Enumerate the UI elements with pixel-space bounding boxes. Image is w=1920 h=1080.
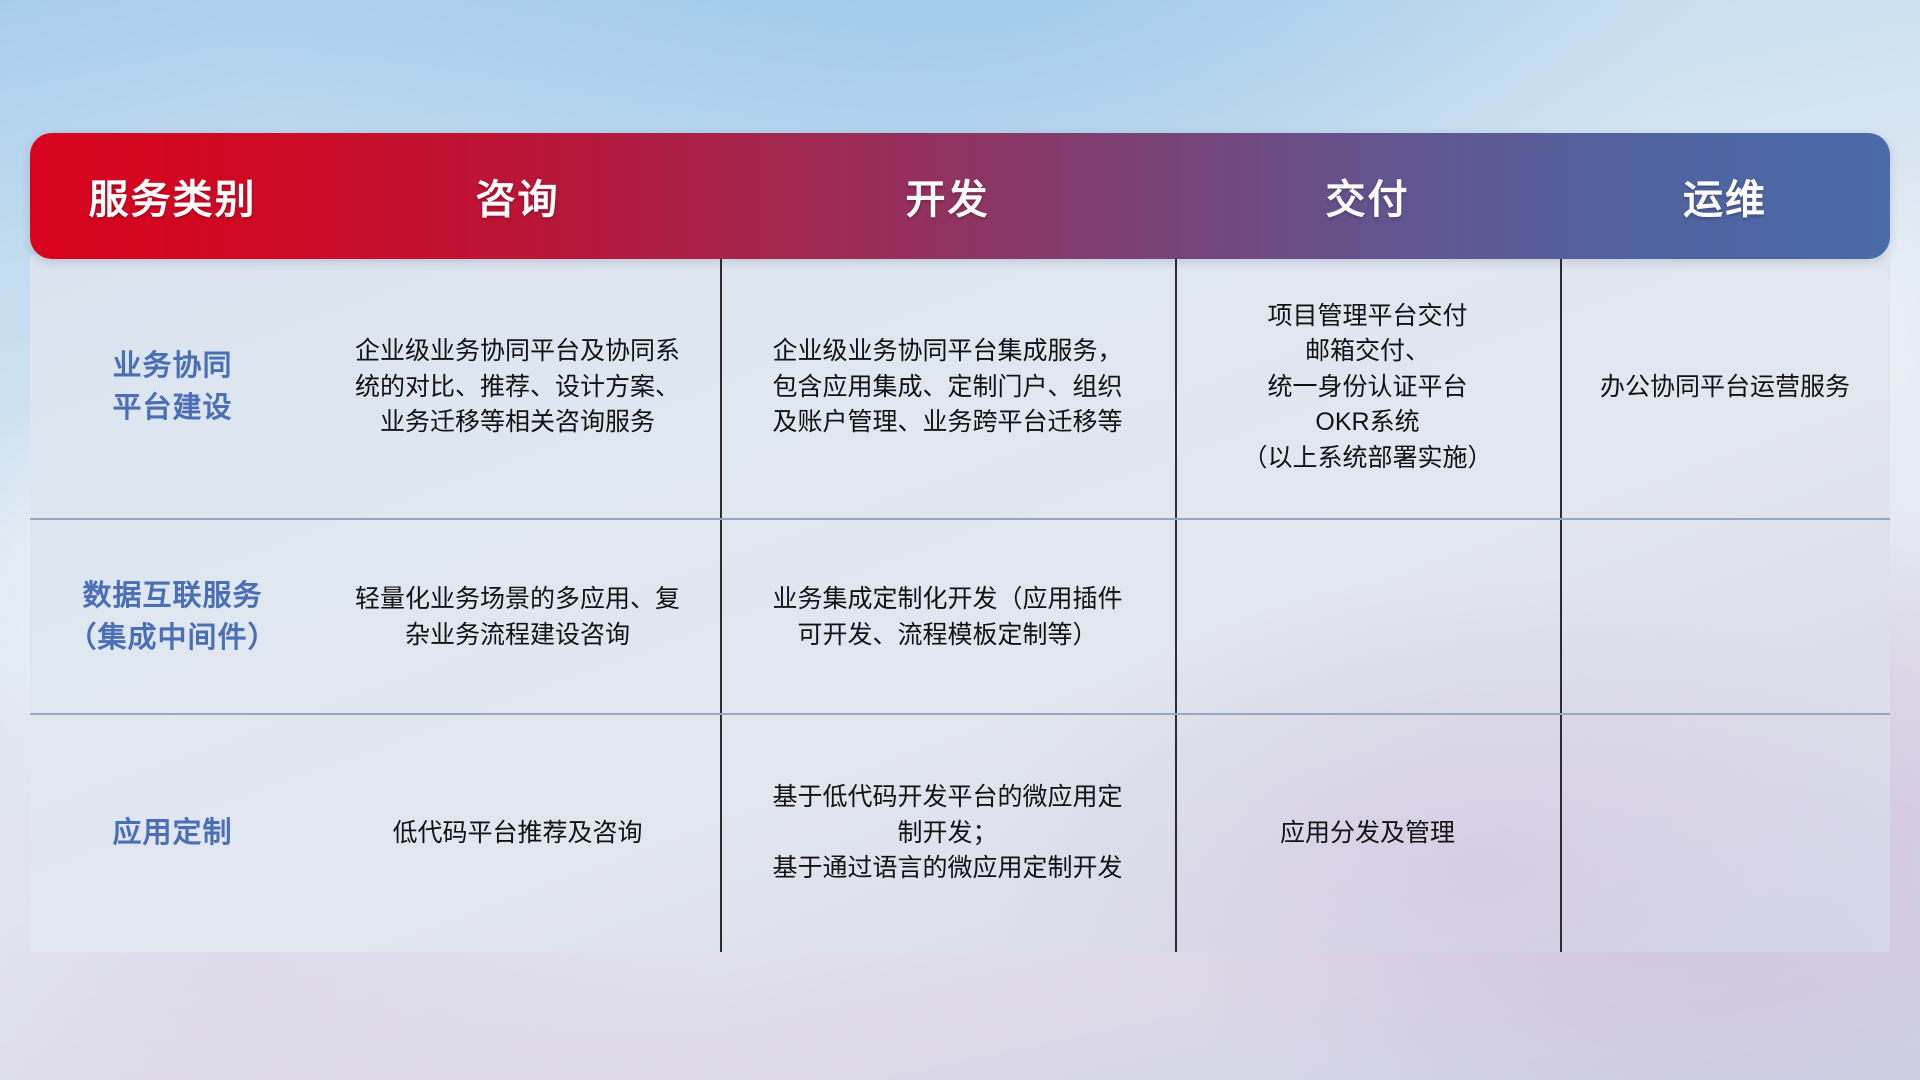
column-divider-1 — [720, 715, 722, 952]
service-category-table: 服务类别 咨询 开发 交付 运维 业务协同 平台建设 企业级业务协同平台及协同系… — [30, 133, 1890, 963]
row-2-cell-operations — [1560, 520, 1890, 715]
row-1-cell-development: 企业级业务协同平台集成服务， 包含应用集成、定制门户、组织 及账户管理、业务跨平… — [720, 255, 1175, 520]
table-body: 业务协同 平台建设 企业级业务协同平台及协同系 统的对比、推荐、设计方案、 业务… — [30, 255, 1890, 952]
table-header-cell-operations: 运维 — [1560, 167, 1890, 225]
column-divider-2 — [1175, 255, 1177, 520]
column-divider-3 — [1560, 520, 1562, 715]
row-2-cell-development: 业务集成定制化开发（应用插件 可开发、流程模板定制等） — [720, 520, 1175, 715]
column-divider-3 — [1560, 715, 1562, 952]
row-1-cell-delivery: 项目管理平台交付 邮箱交付、 统一身份认证平台 OKR系统 （以上系统部署实施） — [1175, 255, 1560, 520]
row-3-cell-category: 应用定制 — [30, 715, 315, 952]
row-2-cell-delivery — [1175, 520, 1560, 715]
table-header-cell-consulting: 咨询 — [315, 167, 720, 225]
column-divider-1 — [720, 520, 722, 715]
row-3-cell-consulting: 低代码平台推荐及咨询 — [315, 715, 720, 952]
table-header-cell-delivery: 交付 — [1175, 167, 1560, 225]
column-divider-2 — [1175, 520, 1177, 715]
table-row: 业务协同 平台建设 企业级业务协同平台及协同系 统的对比、推荐、设计方案、 业务… — [30, 255, 1890, 520]
column-divider-1 — [720, 255, 722, 520]
row-2-cell-consulting: 轻量化业务场景的多应用、复 杂业务流程建设咨询 — [315, 520, 720, 715]
row-1-cell-category: 业务协同 平台建设 — [30, 255, 315, 520]
row-3-cell-delivery: 应用分发及管理 — [1175, 715, 1560, 952]
table-row: 应用定制 低代码平台推荐及咨询 基于低代码开发平台的微应用定 制开发； 基于通过… — [30, 715, 1890, 952]
table-header-cell-development: 开发 — [720, 167, 1175, 225]
table-header-row: 服务类别 咨询 开发 交付 运维 — [30, 133, 1890, 259]
row-3-cell-operations — [1560, 715, 1890, 952]
column-divider-3 — [1560, 255, 1562, 520]
column-divider-2 — [1175, 715, 1177, 952]
row-1-cell-consulting: 企业级业务协同平台及协同系 统的对比、推荐、设计方案、 业务迁移等相关咨询服务 — [315, 255, 720, 520]
row-1-cell-operations: 办公协同平台运营服务 — [1560, 255, 1890, 520]
row-2-cell-category: 数据互联服务 （集成中间件） — [30, 520, 315, 715]
table-header-cell-category: 服务类别 — [30, 167, 315, 225]
table-row: 数据互联服务 （集成中间件） 轻量化业务场景的多应用、复 杂业务流程建设咨询 业… — [30, 520, 1890, 715]
row-3-cell-development: 基于低代码开发平台的微应用定 制开发； 基于通过语言的微应用定制开发 — [720, 715, 1175, 952]
